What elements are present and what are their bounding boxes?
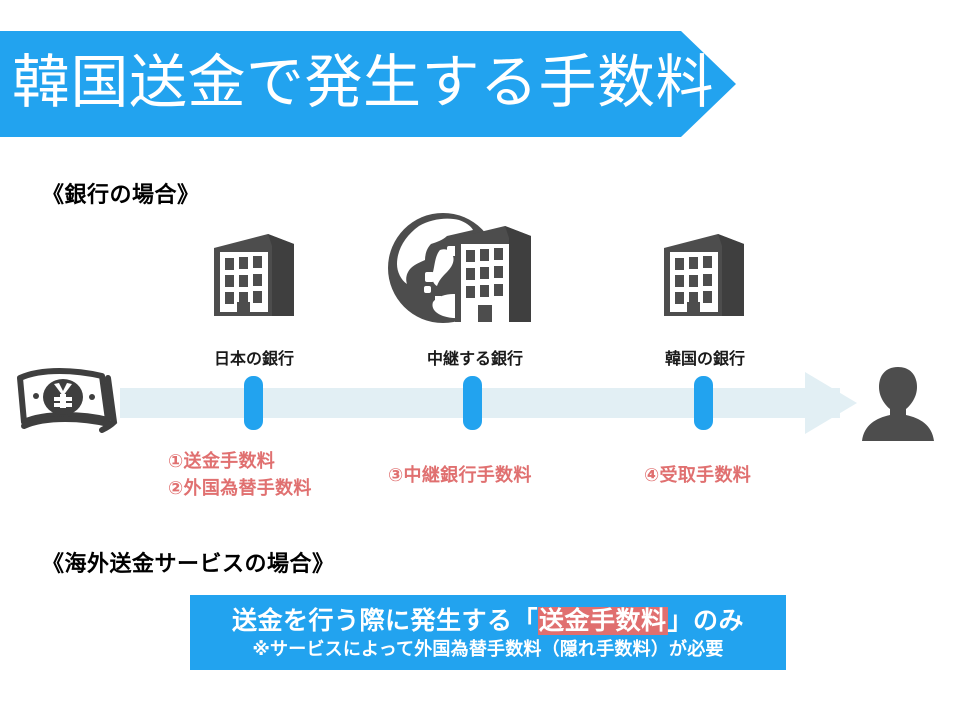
service-callout-box: 送金を行う際に発生する「送金手数料」のみ ※サービスによって外国為替手数料（隠れ…: [190, 595, 786, 670]
service-callout-highlight: 送金手数料: [538, 607, 668, 635]
page-title: 韓国送金で発生する手数料: [12, 31, 714, 137]
fee-label-intermediary-bank: ③中継銀行手数料: [388, 462, 532, 489]
flow-tick-relay: [463, 376, 482, 430]
service-callout-prefix: 送金を行う際に発生する「: [232, 607, 538, 635]
fee-label-line: ④受取手数料: [644, 462, 751, 489]
fee-label-line: ①送金手数料: [168, 448, 312, 475]
fee-label-sending-and-fx: ①送金手数料 ②外国為替手数料: [168, 448, 312, 502]
service-callout-suffix: 」のみ: [668, 607, 745, 635]
money-banknote-yen-icon: [14, 364, 118, 446]
fee-label-receiving: ④受取手数料: [644, 462, 751, 489]
bank-building-icon: [656, 230, 752, 326]
person-silhouette-icon: [862, 365, 934, 441]
flow-arrowhead-icon: [805, 372, 857, 434]
bank-label-korea: 韓国の銀行: [652, 345, 758, 369]
service-callout-note-text: ※サービスによって外国為替手数料（隠れ手数料）が必要: [252, 637, 723, 661]
flow-tick-korea: [694, 376, 713, 430]
title-banner: 韓国送金で発生する手数料: [0, 31, 736, 137]
section-heading-service: 《海外送金サービスの場合》: [42, 546, 335, 578]
bank-building-icon: [206, 230, 302, 326]
fee-label-line: ③中継銀行手数料: [388, 462, 532, 489]
section-heading-bank: 《銀行の場合》: [42, 177, 200, 209]
slide-canvas: 韓国送金で発生する手数料 《銀行の場合》: [0, 0, 960, 720]
flow-tick-japan: [244, 376, 263, 430]
fee-label-line: ②外国為替手数料: [168, 475, 312, 502]
service-callout-primary-text: 送金を行う際に発生する「送金手数料」のみ: [232, 605, 744, 637]
bank-label-japan: 日本の銀行: [204, 345, 304, 369]
bank-label-relay: 中継する銀行: [410, 345, 540, 369]
globe-bank-building-icon: [385, 210, 535, 335]
